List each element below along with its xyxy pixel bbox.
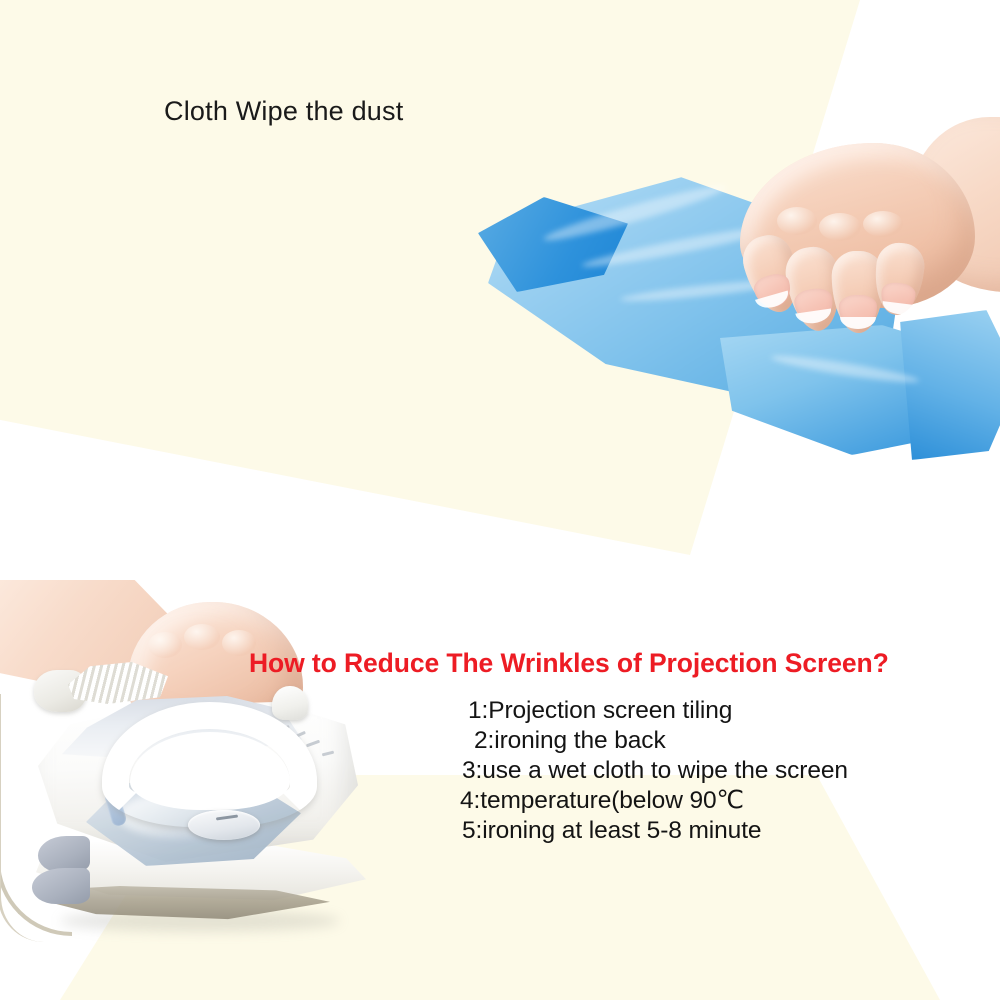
list-item: 1:Projection screen tiling xyxy=(452,696,1000,726)
bottom-heading-text: How to Reduce The Wrinkles of Projection… xyxy=(249,648,889,679)
knuckle xyxy=(184,624,220,650)
iron-steam-knob xyxy=(272,686,308,720)
iron-temperature-dial xyxy=(188,810,260,840)
list-item: 5:ironing at least 5-8 minute xyxy=(452,816,1000,846)
top-panel-cloth-wipe: Cloth Wipe the dust xyxy=(0,0,1000,580)
knuckle xyxy=(863,211,903,237)
product-infographic-image: Cloth Wipe the dust xyxy=(0,0,1000,1000)
list-item: 3:use a wet cloth to wipe the screen xyxy=(452,756,1000,786)
knuckle xyxy=(777,207,817,235)
list-item: 4:temperature(below 90℃ xyxy=(452,786,1000,816)
cloth-wipe-photo xyxy=(470,135,1000,465)
fingernail-tip xyxy=(840,317,876,329)
list-item: 2:ironing the back xyxy=(452,726,1000,756)
top-heading-text: Cloth Wipe the dust xyxy=(164,96,403,127)
bottom-panel-ironing-tips: How to Reduce The Wrinkles of Projection… xyxy=(0,580,1000,1000)
iron-heel-pad-upper xyxy=(38,836,90,872)
iron-power-cord-secondary xyxy=(0,694,44,942)
iron-heel-pad-lower xyxy=(32,868,90,904)
knuckle xyxy=(148,632,182,658)
knuckle xyxy=(819,213,861,241)
hand-top xyxy=(685,115,1000,365)
ironing-steps-list: 1:Projection screen tiling 2:ironing the… xyxy=(452,696,1000,846)
